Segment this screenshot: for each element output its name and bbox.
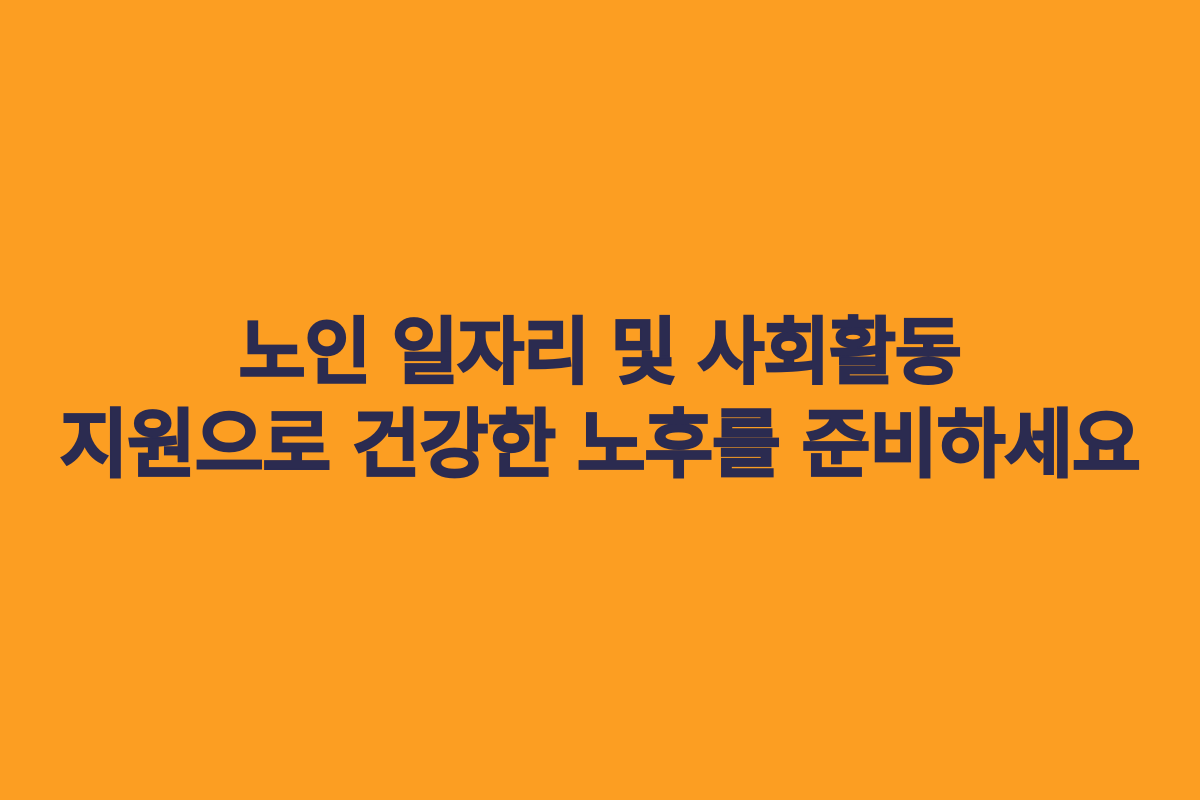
banner-canvas: 노인 일자리 및 사회활동 지원으로 건강한 노후를 준비하세요: [0, 0, 1200, 800]
headline-line-2: 지원으로 건강한 노후를 준비하세요: [12, 399, 1188, 491]
headline-line-1: 노인 일자리 및 사회활동: [12, 309, 1188, 398]
banner-headline: 노인 일자리 및 사회활동 지원으로 건강한 노후를 준비하세요: [0, 309, 1200, 490]
